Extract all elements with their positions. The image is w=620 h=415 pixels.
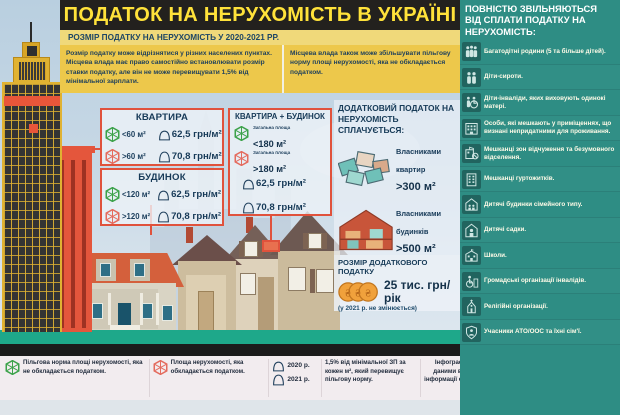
tax-price-label: 62,5 грн/м² (256, 178, 306, 189)
sidebar-item-label: Особи, які мешкають у приміщеннях, що ви… (484, 120, 620, 136)
tax-area-sublabel: Загальна площа (253, 150, 290, 155)
tax-price-label: 70,8 грн/м² (172, 151, 222, 162)
legend-item-years: 2020 р. 2021 р. (269, 359, 322, 397)
kindergarten-icon (462, 221, 481, 240)
legend-item-exempt-area: Пільгова норма площі нерухомості, яка не… (2, 359, 150, 397)
legend-year-row: 2021 р. (272, 373, 309, 385)
legend-year-label: 2020 р. (287, 362, 309, 369)
window (134, 263, 145, 277)
page-title: ПОДАТОК НА НЕРУХОМІСТЬ В УКРАЇНІ (64, 4, 457, 27)
tax-price-label: 62,5 грн/м² (172, 129, 222, 140)
tax-row: 70,8 грн/м² (230, 195, 330, 219)
hex-green-icon (105, 127, 120, 142)
tax-row: >60 м² 70,8 грн/м² (102, 145, 222, 167)
tax-price-label: 62,5 грн/м² (171, 189, 221, 200)
sidebar-item-orphans[interactable]: Діти-сироти. (460, 65, 620, 91)
hex-red-icon (153, 360, 168, 375)
coin-2021-icon (242, 201, 254, 213)
coin-2021-icon (157, 210, 169, 222)
shutter (310, 269, 315, 293)
hex-red-icon (105, 149, 120, 164)
sidebar-item-exclusion-zone[interactable]: Мешканці зон відчуження та безумовного в… (460, 141, 620, 167)
sidebar-item-label: Діти-сироти. (484, 73, 526, 81)
tax-row: Загальна площа >180 м² (230, 146, 330, 171)
sidebar-item-label: Мешканці зон відчуження та безумовного в… (484, 146, 620, 162)
coin-2021-icon (158, 150, 170, 162)
disabled-child-icon (462, 93, 481, 112)
sidebar-item-label: Мешканці гуртожитків. (484, 175, 557, 183)
exclusion-zone-icon (462, 144, 481, 163)
coin-2020-icon (157, 188, 169, 200)
additional-tax-item: Власниками квартир >300 м² (338, 141, 456, 195)
school-icon (462, 246, 481, 265)
sidebar-item-label: Дитячі будинки сімейного типу. (484, 201, 585, 209)
ngo-disabled-icon (462, 272, 481, 291)
tower-glass (4, 84, 60, 332)
window (162, 305, 173, 321)
tax-box-apartment: КВАРТИРА <60 м² 62,5 грн/м² >60 м² 70,8 … (100, 108, 224, 166)
additional-tax-panel: ДОДАТКОВИЙ ПОДАТОК НА НЕРУХОМІСТЬ СПЛАЧУ… (334, 100, 460, 255)
legend-text: Пільгова норма площі нерухомості, яка не… (23, 359, 146, 376)
tax-area-label: <60 м² (122, 130, 146, 139)
sidebar-item-unfit-housing[interactable]: Особи, які мешкають у приміщеннях, що ви… (460, 116, 620, 142)
family-home-icon (462, 195, 481, 214)
window (316, 269, 334, 293)
window (142, 303, 153, 319)
sidebar-item-label: Громадські організації інвалідів. (484, 277, 589, 285)
sidebar-item-label: Дитячі садки. (484, 226, 529, 234)
antenna-mast (30, 22, 32, 44)
lawn-strip (0, 330, 460, 344)
additional-tax-item-value: >300 м² (396, 181, 436, 193)
house-cutaway-icon (338, 208, 394, 252)
tax-box-house-title: БУДИНОК (102, 172, 222, 183)
connector-marker (262, 240, 280, 252)
sidebar-item-family[interactable]: Багатодітні родини (5 та більше дітей). (460, 39, 620, 65)
sidebar-item-school[interactable]: Школи. (460, 243, 620, 269)
legend-year-row: 2020 р. (272, 359, 309, 371)
intro-box-right: Місцева влада також може збільшувати піл… (282, 45, 460, 93)
sidebar-item-dormitory[interactable]: Мешканці гуртожитків. (460, 167, 620, 193)
coin-2021-icon (272, 373, 285, 385)
dormitory-icon (462, 170, 481, 189)
exemptions-heading-block: ПОВНІСТЮ ЗВІЛЬНЯЮТЬСЯ ВІД СПЛАТИ ПОДАТКУ… (460, 0, 620, 39)
intro-text-left: Розмір податку може відрізнятися у різни… (66, 49, 276, 86)
apartments-icon (338, 147, 394, 189)
tax-box-apartment-title: КВАРТИРА (102, 112, 222, 123)
ato-veterans-icon (462, 323, 481, 342)
additional-tax-item-value: >500 м² (396, 243, 436, 255)
porch-column (156, 293, 159, 325)
tax-row: <120 м² 62,5 грн/м² (102, 183, 222, 205)
legend-item-rate-note: 1,5% від мінімальної ЗП за кожен м², яки… (322, 359, 421, 397)
road-strip (0, 344, 460, 356)
additional-tax-title: ДОДАТКОВИЙ ПОДАТОК НА НЕРУХОМІСТЬ СПЛАЧУ… (338, 103, 456, 135)
window (100, 263, 111, 277)
tower-crown (13, 57, 50, 83)
tax-box-combined: КВАРТИРА + БУДИНОК Загальна площа <180 м… (228, 108, 332, 216)
legend-rate-note: 1,5% від мінімальної ЗП за кожен м², яки… (325, 359, 417, 385)
sidebar-item-ngo-disabled[interactable]: Громадські організації інвалідів. (460, 269, 620, 295)
hex-red-icon (105, 209, 120, 224)
sidebar-item-label: Релігійні організації. (484, 303, 551, 311)
coin-2020-icon (242, 177, 254, 189)
svg-text:₴: ₴ (355, 288, 361, 299)
svg-text:₴: ₴ (345, 288, 351, 299)
orphans-icon (462, 68, 481, 87)
tax-area-label: <120 м² (122, 190, 150, 199)
sidebar-item-church[interactable]: Релігійні організації. (460, 294, 620, 320)
door (198, 291, 214, 331)
shutter (322, 233, 327, 249)
chimney (186, 227, 193, 243)
hex-green-icon (105, 187, 120, 202)
additional-tax-item: Власниками будинків >500 м² (338, 203, 456, 257)
additional-tax-size-value: 25 тис. грн/рік (384, 279, 456, 304)
door (258, 277, 274, 331)
tax-area-label: >180 м² (253, 164, 286, 174)
porch-column (108, 293, 111, 325)
window (92, 303, 103, 319)
intro-box-left: Розмір податку може відрізнятися у різни… (60, 45, 282, 93)
additional-tax-size-note: (у 2021 р. не змінюється) (338, 305, 456, 312)
coin-2020-icon (272, 359, 285, 371)
tax-price-label: 70,8 грн/м² (171, 211, 221, 222)
family-icon (462, 42, 481, 61)
tax-area-sublabel: Загальна площа (253, 125, 290, 130)
legend-year-label: 2021 р. (287, 376, 309, 383)
sidebar-item-label: Діти-інваліди, яких виховують одинокі ма… (484, 95, 620, 111)
shutter (303, 233, 308, 249)
legend-text: Площа нерухомості, яка обкладається пода… (171, 359, 266, 376)
window (288, 267, 306, 291)
sidebar-item-label: Багатодітні родини (5 та більше дітей). (484, 48, 609, 56)
house-medium (172, 235, 242, 331)
tower-crown-top (22, 42, 40, 58)
hex-green-icon (5, 360, 20, 375)
additional-tax-item-label: Власниками квартир (396, 147, 441, 174)
svg-text:₴: ₴ (365, 288, 371, 299)
additional-tax-size-panel: РОЗМІР ДОДАТКОВОГО ПОДАТКУ ₴ ₴ ₴ 25 тис.… (334, 255, 460, 311)
sidebar-item-family-home[interactable]: Дитячі будинки сімейного типу. (460, 192, 620, 218)
coin-2020-icon (158, 128, 170, 140)
tax-row: >120 м² 70,8 грн/м² (102, 205, 222, 227)
infographic-root: ПОДАТОК НА НЕРУХОМІСТЬ В УКРАЇНІ РОЗМІР … (0, 0, 620, 415)
sidebar-item-ato-veterans[interactable]: Учасники АТО/ООС та їхні сім'ї. (460, 320, 620, 346)
unfit-housing-icon (462, 119, 481, 138)
coins-stack-icon: ₴ ₴ ₴ (338, 281, 380, 303)
additional-tax-item-label: Власниками будинків (396, 209, 441, 236)
sidebar-item-label: Школи. (484, 252, 510, 260)
tax-row: <60 м² 62,5 грн/м² (102, 123, 222, 145)
hex-red-icon (234, 151, 249, 166)
sidebar-item-disabled-child[interactable]: Діти-інваліди, яких виховують одинокі ма… (460, 90, 620, 116)
subtitle-bar: РОЗМІР ПОДАТКУ НА НЕРУХОМІСТЬ У 2020-202… (60, 30, 460, 45)
additional-tax-size-title: РОЗМІР ДОДАТКОВОГО ПОДАТКУ (338, 258, 456, 277)
exemptions-sidebar: ПОВНІСТЮ ЗВІЛЬНЯЮТЬСЯ ВІД СПЛАТИ ПОДАТКУ… (460, 0, 620, 415)
tower-body (2, 82, 62, 332)
legend-item-taxable-area: Площа нерухомості, яка обкладається пода… (150, 359, 270, 397)
exemptions-heading: ПОВНІСТЮ ЗВІЛЬНЯЮТЬСЯ ВІД СПЛАТИ ПОДАТКУ… (465, 3, 615, 37)
page-subtitle: РОЗМІР ПОДАТКУ НА НЕРУХОМІСТЬ У 2020-202… (60, 33, 279, 42)
sidebar-item-label: Учасники АТО/ООС та їхні сім'ї. (484, 328, 585, 336)
church-icon (462, 297, 481, 316)
window (244, 241, 258, 257)
window (240, 273, 256, 295)
tax-area-label: >60 м² (122, 152, 146, 161)
sidebar-item-kindergarten[interactable]: Дитячі садки. (460, 218, 620, 244)
intro-boxes: Розмір податку може відрізнятися у різни… (60, 45, 460, 93)
tax-box-house: БУДИНОК <120 м² 62,5 грн/м² >120 м² 70,8… (100, 168, 224, 226)
page-title-bar: ПОДАТОК НА НЕРУХОМІСТЬ В УКРАЇНІ (60, 0, 460, 30)
hex-green-icon (234, 126, 249, 141)
tax-price-label: 70,8 грн/м² (256, 202, 306, 213)
midrise-windows (60, 160, 88, 328)
tax-area-label: >120 м² (122, 212, 150, 221)
window (308, 233, 322, 249)
intro-text-right: Місцева влада також може збільшувати піл… (290, 49, 454, 77)
tower-highlight-unit (29, 124, 38, 133)
tower-highlight-band (4, 96, 60, 106)
skyscraper-illustration (2, 22, 62, 332)
